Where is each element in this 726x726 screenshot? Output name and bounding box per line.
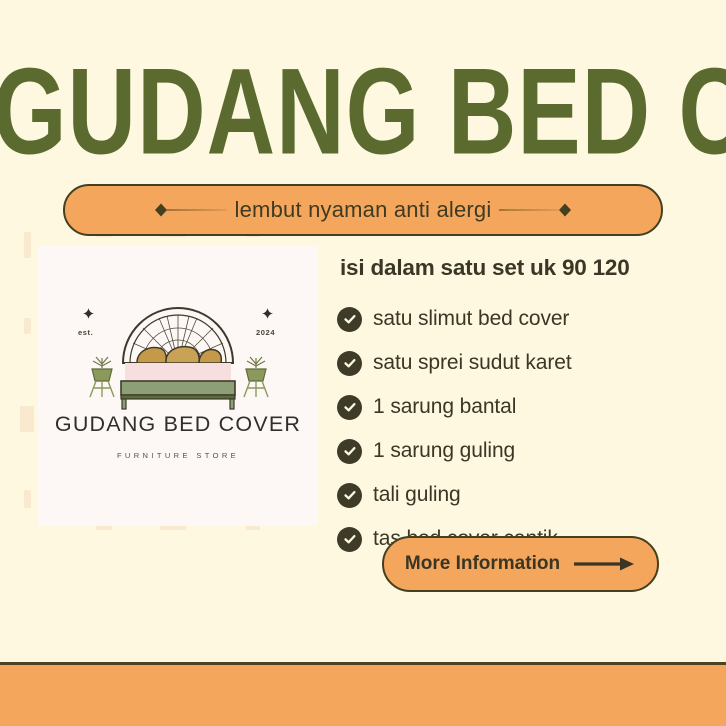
poster-title-wrap: GUDANG BED COVER: [0, 48, 726, 144]
star-ornament-right-icon: [491, 199, 583, 221]
tagline-text: lembut nyaman anti alergi: [235, 197, 492, 223]
page-title: GUDANG BED COVER: [0, 48, 726, 175]
check-circle-icon: [337, 483, 362, 508]
logo-year-label: 2024: [256, 328, 275, 337]
star-ornament-left-icon: [143, 199, 235, 221]
plant-left-icon: [82, 352, 122, 400]
list-item-label: 1 sarung bantal: [373, 395, 516, 419]
check-circle-icon: [337, 351, 362, 376]
list-item-label: 1 sarung guling: [373, 439, 515, 463]
check-circle-icon: [337, 395, 362, 420]
list-item: satu sprei sudut karet: [337, 345, 697, 381]
plant-right-icon: [236, 352, 276, 400]
diamond-ornament-left-icon: [83, 308, 94, 319]
bed-illustration-icon: [103, 301, 253, 411]
arrow-right-icon: [574, 555, 636, 573]
diamond-ornament-right-icon: [262, 308, 273, 319]
poster-canvas: GUDANG BED COVER lembut nyaman anti aler…: [0, 0, 726, 726]
check-circle-icon: [337, 439, 362, 464]
brand-logo-card: PREMIUM QUALITY est. 2024: [38, 246, 318, 526]
list-item: tali guling: [337, 477, 697, 513]
tagline-banner: lembut nyaman anti alergi: [63, 184, 663, 236]
offer-feature-list: satu slimut bed cover satu sprei sudut k…: [337, 301, 697, 565]
footer-bar: [0, 662, 726, 726]
check-circle-icon: [337, 307, 362, 332]
list-item-label: satu sprei sudut karet: [373, 351, 572, 375]
list-item-label: tali guling: [373, 483, 461, 507]
logo-subtitle: FURNITURE STORE: [38, 451, 318, 460]
more-information-button[interactable]: More Information: [382, 536, 659, 592]
check-circle-icon: [337, 527, 362, 552]
logo-est-label: est.: [78, 328, 93, 337]
list-item: 1 sarung guling: [337, 433, 697, 469]
more-information-label: More Information: [405, 553, 560, 575]
list-item: 1 sarung bantal: [337, 389, 697, 425]
logo-brand-name: GUDANG BED COVER: [38, 412, 318, 437]
offer-heading: isi dalam satu set uk 90 120: [340, 255, 630, 281]
list-item: satu slimut bed cover: [337, 301, 697, 337]
list-item-label: satu slimut bed cover: [373, 307, 569, 331]
